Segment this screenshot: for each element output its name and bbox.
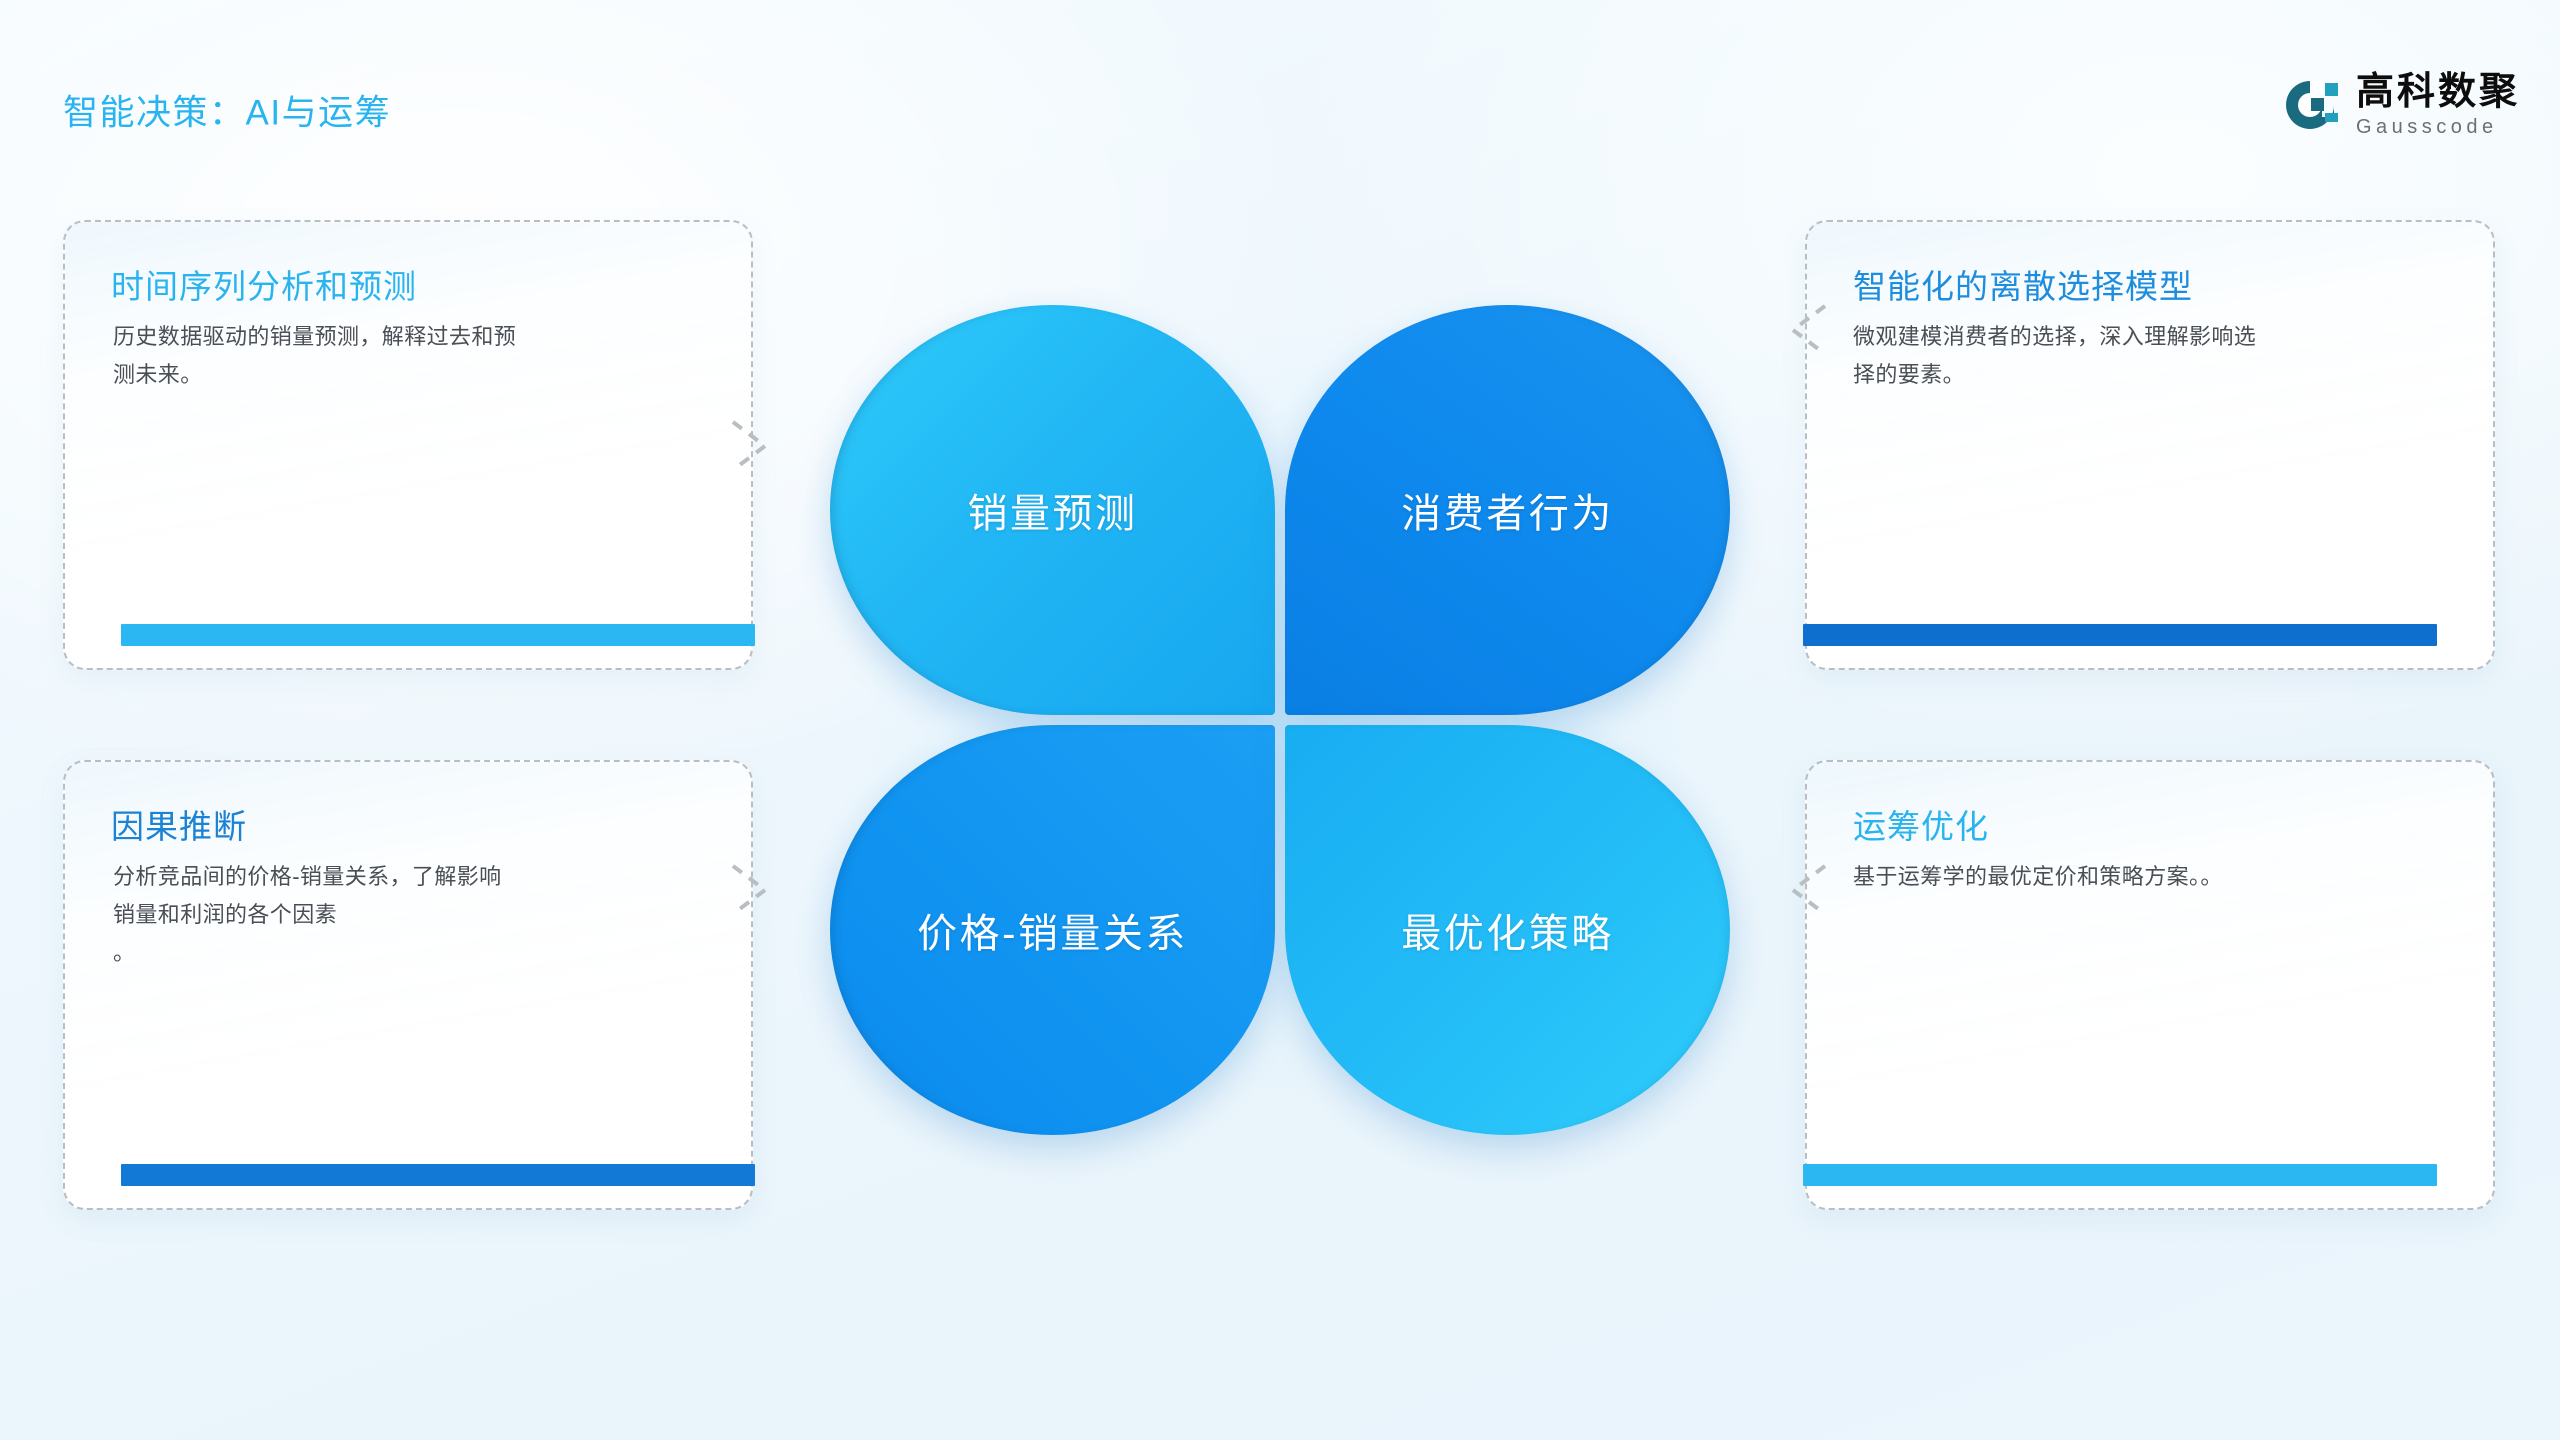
card-body: 基于运筹学的最优定价和策略方案。。 (1853, 858, 2453, 896)
card-title: 智能化的离散选择模型 (1853, 260, 2193, 308)
petal-label: 最优化策略 (1401, 901, 1614, 959)
card-accent-bar (1803, 624, 2437, 646)
card-timeseries[interactable]: 时间序列分析和预测 历史数据驱动的销量预测，解释过去和预 测未来。 (63, 220, 753, 670)
brand-name-cn: 高科数聚 (2356, 73, 2520, 111)
petal-optimization-strategy[interactable]: 最优化策略 (1285, 725, 1730, 1135)
card-body: 历史数据驱动的销量预测，解释过去和预 测未来。 (113, 318, 713, 394)
brand-logo: 高科数聚 Gausscode (2280, 73, 2520, 137)
card-title: 因果推断 (111, 800, 247, 848)
card-body: 分析竞品间的价格-销量关系，了解影响 销量和利润的各个因素 。 (113, 858, 713, 971)
card-accent-bar (1803, 1164, 2437, 1186)
card-accent-bar (121, 1164, 755, 1186)
petal-label: 销量预测 (968, 481, 1138, 539)
gausscode-logo-icon (2280, 75, 2340, 135)
chevron-left-icon (1783, 302, 1829, 358)
petal-label: 价格-销量关系 (917, 901, 1188, 959)
petal-consumer-behavior[interactable]: 消费者行为 (1285, 305, 1730, 715)
card-body: 微观建模消费者的选择，深入理解影响选 择的要素。 (1853, 318, 2453, 394)
petal-label: 消费者行为 (1401, 481, 1614, 539)
card-discrete[interactable]: 智能化的离散选择模型 微观建模消费者的选择，深入理解影响选 择的要素。 (1805, 220, 2495, 670)
petal-price-sales-relation[interactable]: 价格-销量关系 (830, 725, 1275, 1135)
petal-sales-forecast[interactable]: 销量预测 (830, 305, 1275, 715)
brand-wordmark: 高科数聚 Gausscode (2356, 73, 2520, 137)
page-title: 智能决策：AI与运筹 (63, 85, 391, 136)
card-causal[interactable]: 因果推断 分析竞品间的价格-销量关系，了解影响 销量和利润的各个因素 。 (63, 760, 753, 1210)
chevron-right-icon (729, 418, 775, 474)
card-title: 时间序列分析和预测 (111, 260, 417, 308)
card-title: 运筹优化 (1853, 800, 1989, 848)
brand-name-en: Gausscode (2356, 117, 2520, 137)
card-accent-bar (121, 624, 755, 646)
card-operations[interactable]: 运筹优化 基于运筹学的最优定价和策略方案。。 (1805, 760, 2495, 1210)
center-flower-diagram: 销量预测 消费者行为 价格-销量关系 最优化策略 (830, 305, 1730, 1135)
